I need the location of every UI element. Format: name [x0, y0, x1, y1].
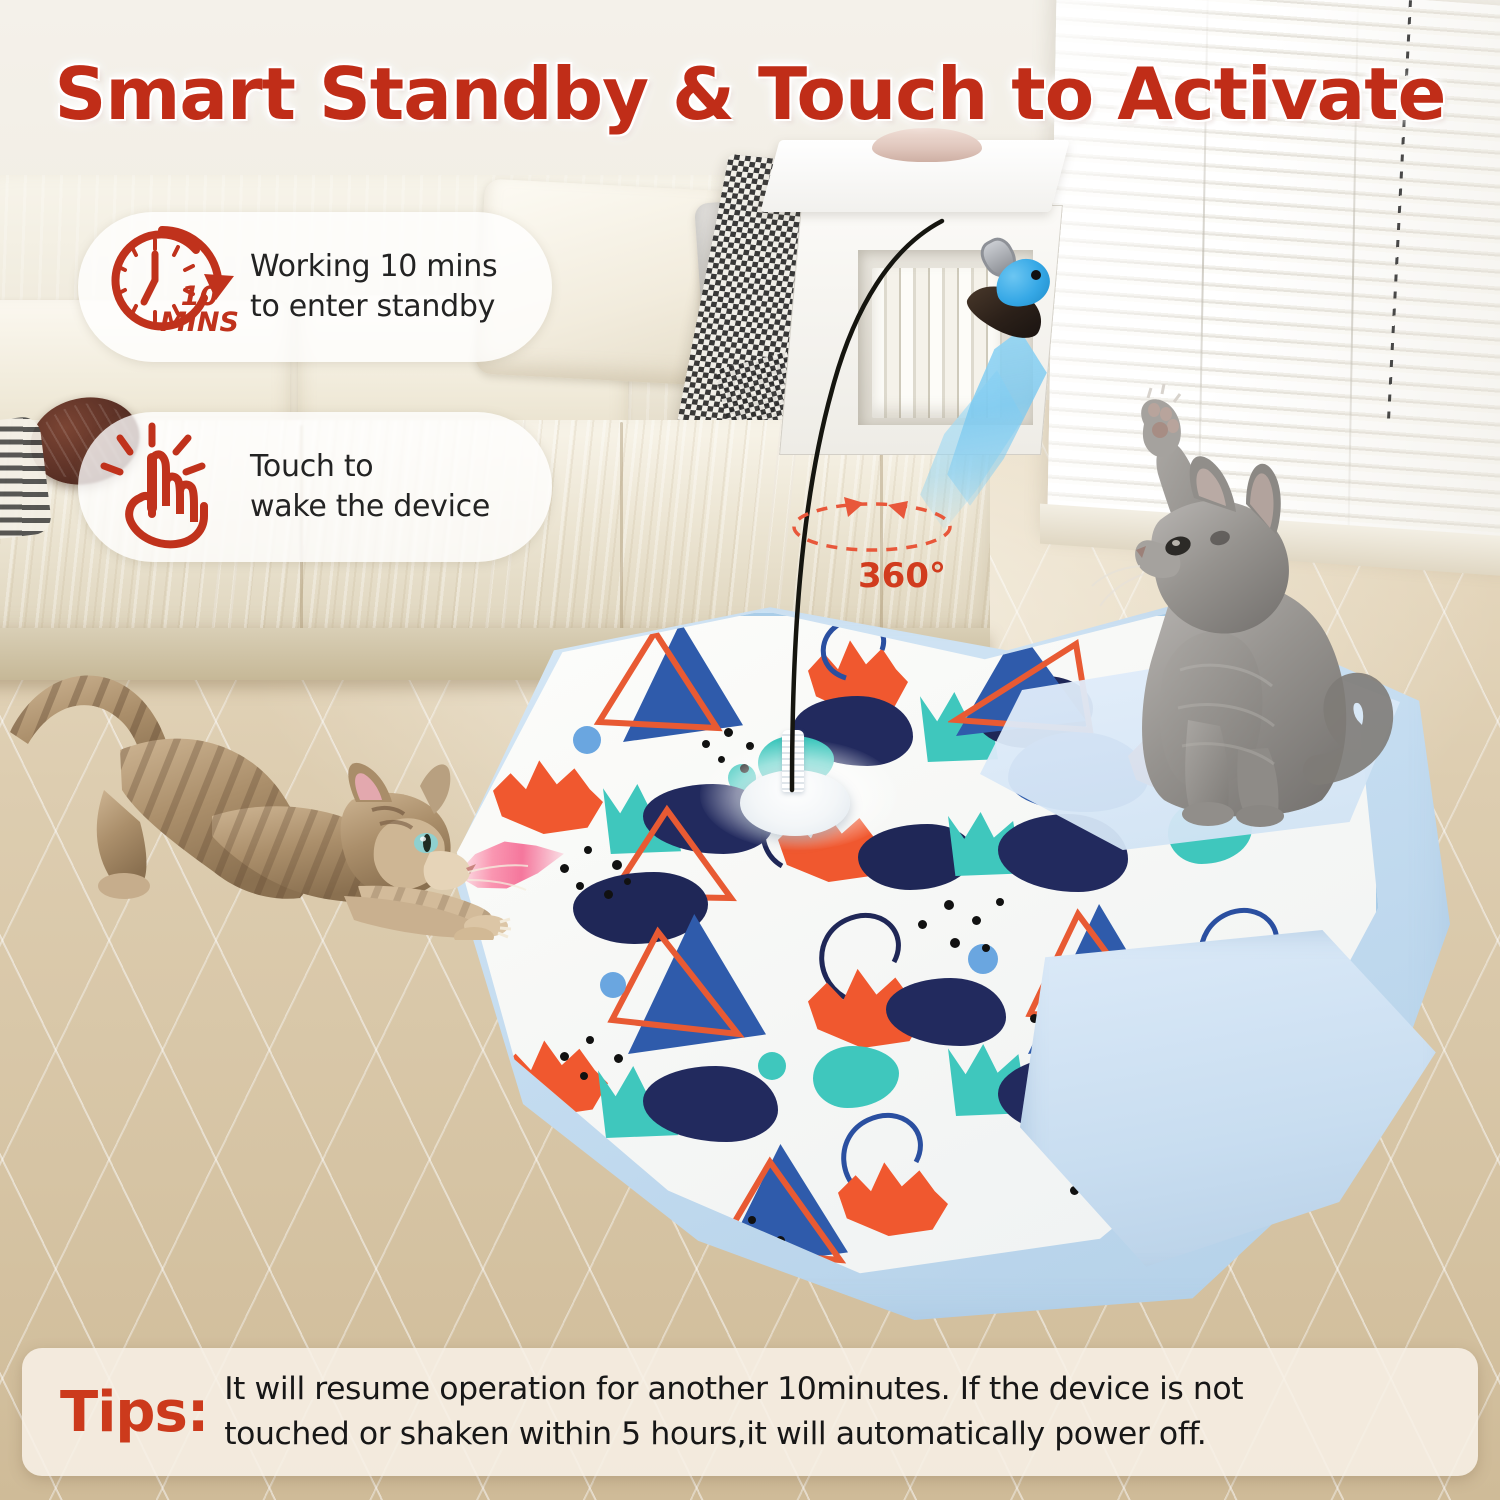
- clock-mins-label: 10 MINS: [160, 284, 239, 335]
- feature-badge-standby: 10 MINS Working 10 mins to enter standby: [78, 212, 552, 362]
- tips-line-1: It will resume operation for another 10m…: [224, 1367, 1452, 1412]
- feature-line-2: to enter standby: [250, 289, 495, 324]
- feature-line-1: Working 10 mins: [250, 249, 497, 284]
- clock-mins-value: 10: [160, 284, 239, 310]
- tabby-kitten: [0, 640, 560, 940]
- clock-mins-unit: MINS: [160, 310, 239, 336]
- mat-dot-cluster: [916, 894, 1012, 956]
- feature-line-2: wake the device: [250, 489, 490, 524]
- page-title: Smart Standby & Touch to Activate: [0, 52, 1500, 136]
- mat-shape-teal-blob: [813, 1046, 899, 1108]
- tips-label: Tips:: [60, 1380, 208, 1445]
- wand-holder: [782, 730, 804, 792]
- feature-line-1: Touch to: [250, 449, 373, 484]
- mat-shape-blue-dot: [573, 726, 601, 754]
- feature-badge-touch-text: Touch to wake the device: [250, 447, 530, 527]
- mat-shape-orange-triangle-outline: [606, 924, 746, 1046]
- touch-hand-icon: [100, 422, 250, 552]
- feature-badge-standby-text: Working 10 mins to enter standby: [250, 247, 530, 327]
- tips-bar: Tips: It will resume operation for anoth…: [22, 1348, 1478, 1476]
- tips-body: It will resume operation for another 10m…: [224, 1367, 1478, 1456]
- product-marketing-image: Smart Standby & Touch to Activate: [0, 0, 1500, 1500]
- rotation-label: 360°: [858, 556, 946, 596]
- feather-bird-toy: [975, 250, 1055, 320]
- mat-dot-cluster: [556, 1034, 636, 1092]
- mat-dot-cluster: [558, 844, 638, 904]
- mat-shape-orange-triangle-outline: [593, 626, 723, 736]
- tips-line-2: touched or shaken within 5 hours,it will…: [224, 1412, 1452, 1457]
- bird-eye: [1031, 270, 1041, 280]
- rotation-arrows-icon: [782, 495, 962, 555]
- feature-badge-touch: Touch to wake the device: [78, 412, 552, 562]
- mat-shape-teal-dot: [758, 1052, 786, 1080]
- grey-kitten: [1060, 370, 1420, 840]
- clock-arrow-icon: 10 MINS: [100, 222, 250, 352]
- mat-shape-blue-dot: [600, 972, 626, 998]
